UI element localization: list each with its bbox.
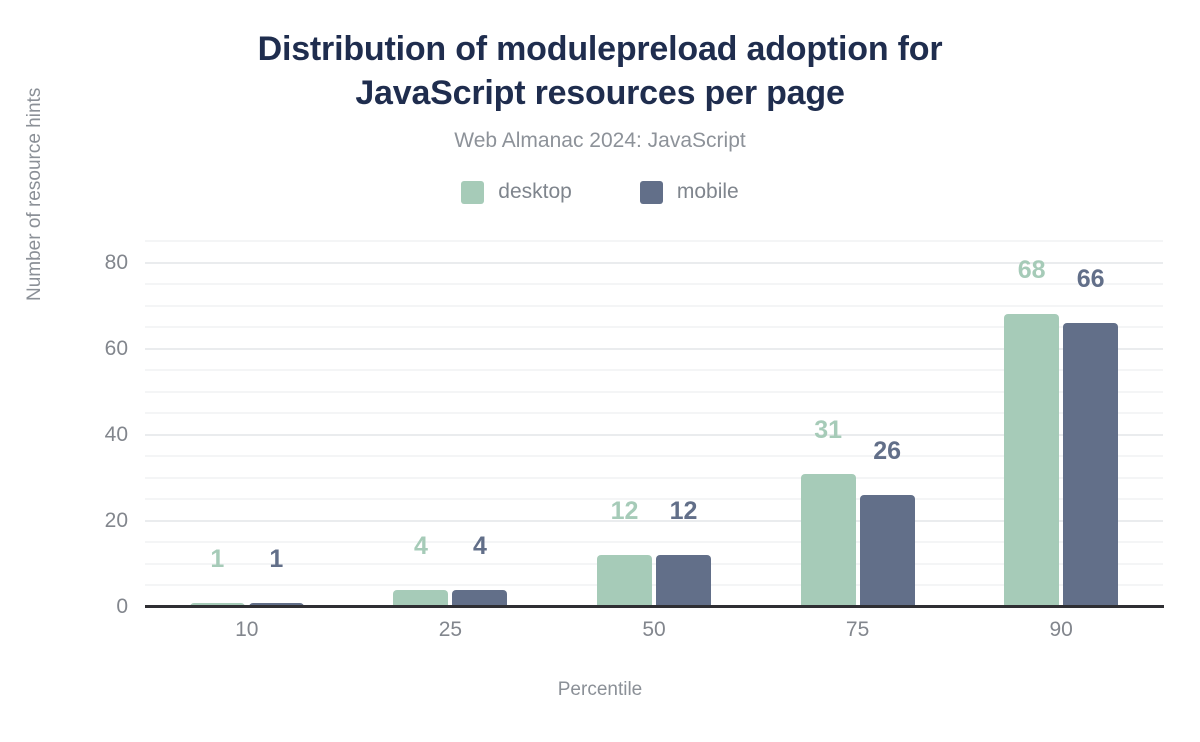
bar-value-label-desktop-75: 31 bbox=[814, 416, 842, 445]
bar-value-label-mobile-50: 12 bbox=[670, 497, 698, 526]
x-axis-title: Percentile bbox=[0, 679, 1200, 701]
x-tick-label-75: 75 bbox=[768, 618, 948, 642]
bar-value-label-mobile-90: 66 bbox=[1077, 265, 1105, 294]
chart-title: Distribution of modulepreload adoption f… bbox=[0, 28, 1200, 115]
gridline-minor bbox=[145, 305, 1163, 307]
bar-value-label-mobile-75: 26 bbox=[873, 437, 901, 466]
bar-value-label-mobile-10: 1 bbox=[269, 545, 283, 574]
y-tick-label: 40 bbox=[23, 423, 128, 447]
gridline-major bbox=[145, 262, 1163, 264]
bar-value-label-mobile-25: 4 bbox=[473, 532, 487, 561]
bar-mobile-50[interactable] bbox=[656, 555, 711, 607]
y-tick-label: 80 bbox=[23, 251, 128, 275]
bar-mobile-75[interactable] bbox=[860, 495, 915, 607]
legend-item-desktop[interactable]: desktop bbox=[461, 180, 572, 204]
x-axis-baseline bbox=[145, 605, 1164, 608]
x-tick-label-25: 25 bbox=[360, 618, 540, 642]
bar-value-label-desktop-25: 4 bbox=[414, 532, 428, 561]
x-tick-label-90: 90 bbox=[971, 618, 1151, 642]
gridline-minor bbox=[145, 283, 1163, 285]
chart-figure: Distribution of modulepreload adoption f… bbox=[0, 0, 1200, 742]
x-tick-label-50: 50 bbox=[564, 618, 744, 642]
bar-mobile-90[interactable] bbox=[1063, 323, 1118, 607]
chart-title-line-1: Distribution of modulepreload adoption f… bbox=[258, 30, 943, 68]
x-tick-label-10: 10 bbox=[157, 618, 337, 642]
title-block: Distribution of modulepreload adoption f… bbox=[0, 28, 1200, 153]
gridline-minor bbox=[145, 240, 1163, 242]
legend-swatch-desktop bbox=[461, 181, 484, 204]
legend-item-mobile[interactable]: mobile bbox=[640, 180, 739, 204]
legend-swatch-mobile bbox=[640, 181, 663, 204]
bar-desktop-90[interactable] bbox=[1004, 314, 1059, 607]
y-tick-label: 20 bbox=[23, 509, 128, 533]
chart-title-line-2: JavaScript resources per page bbox=[355, 74, 844, 112]
y-tick-label: 0 bbox=[23, 595, 128, 619]
chart-subtitle: Web Almanac 2024: JavaScript bbox=[0, 129, 1200, 153]
chart-legend: desktopmobile bbox=[0, 180, 1200, 204]
bar-value-label-desktop-10: 1 bbox=[210, 545, 224, 574]
legend-label-mobile: mobile bbox=[677, 180, 739, 204]
y-tick-label: 60 bbox=[23, 337, 128, 361]
bar-desktop-75[interactable] bbox=[801, 474, 856, 607]
bar-value-label-desktop-90: 68 bbox=[1018, 256, 1046, 285]
bar-value-label-desktop-50: 12 bbox=[611, 497, 639, 526]
plot-area bbox=[145, 241, 1163, 607]
legend-label-desktop: desktop bbox=[498, 180, 572, 204]
bar-desktop-50[interactable] bbox=[597, 555, 652, 607]
